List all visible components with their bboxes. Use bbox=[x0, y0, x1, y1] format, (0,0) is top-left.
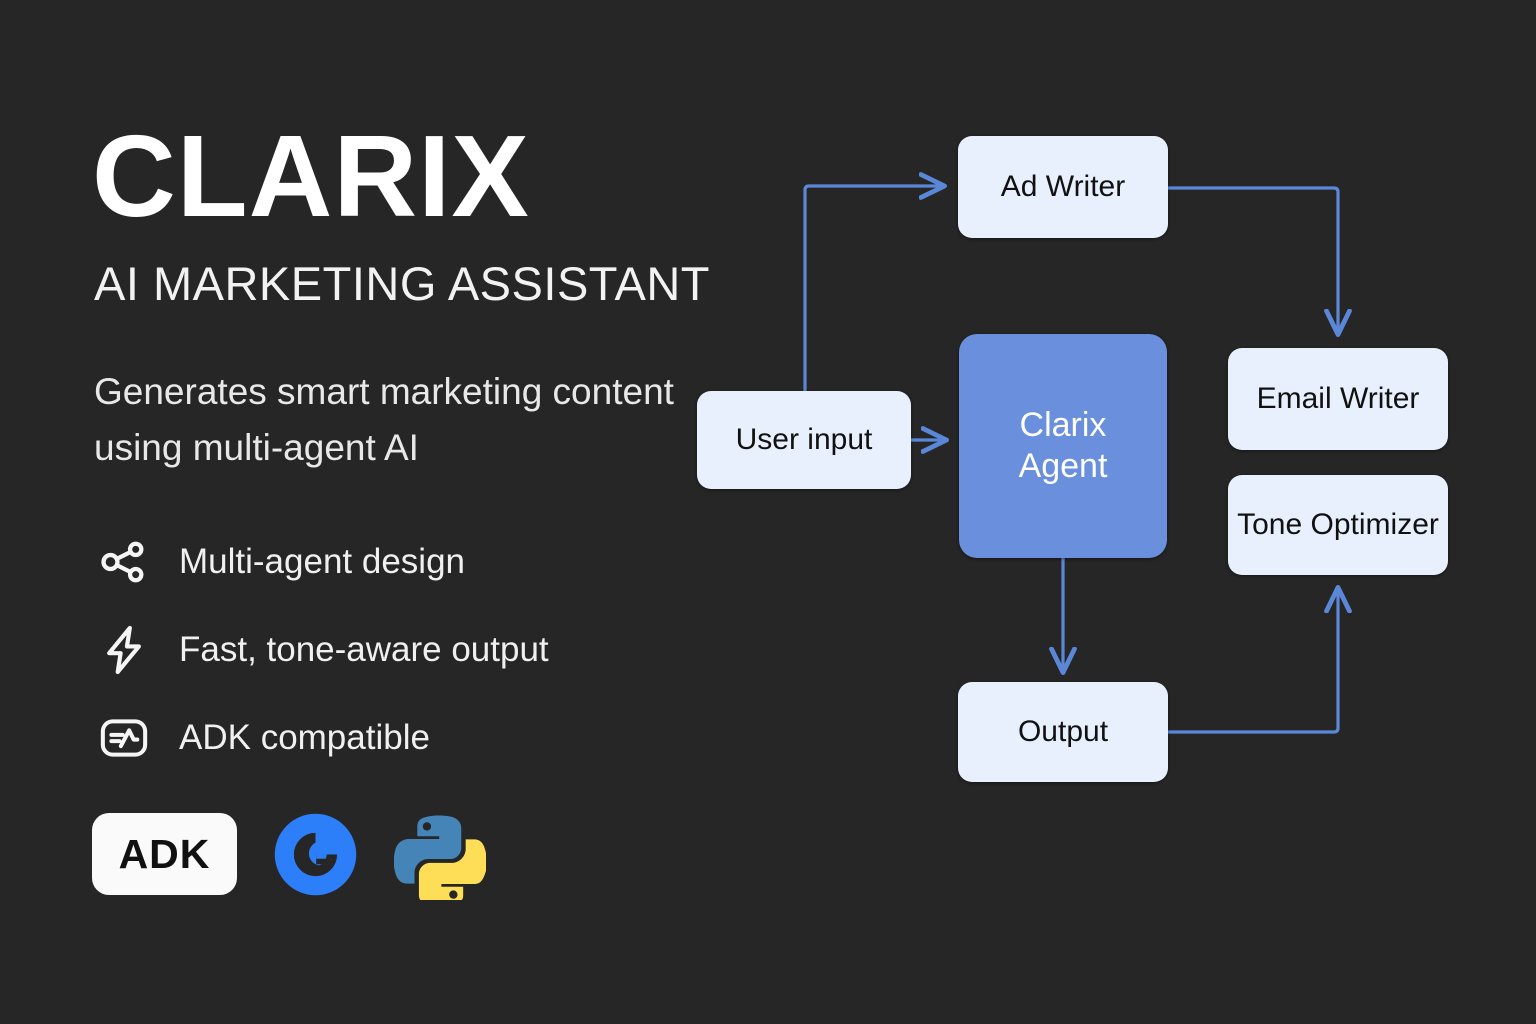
node-tone-optimizer[interactable]: Tone Optimizer bbox=[1228, 475, 1448, 575]
node-user-input[interactable]: User input bbox=[697, 391, 911, 489]
agent-flow-diagram: Ad Writer User input Clarix Agent Email … bbox=[0, 0, 1536, 1024]
node-email-writer[interactable]: Email Writer bbox=[1228, 348, 1448, 450]
edge-user-input-to-ad-writer bbox=[805, 186, 942, 392]
edge-output-to-tone-optimizer bbox=[1168, 590, 1338, 732]
node-ad-writer[interactable]: Ad Writer bbox=[958, 136, 1168, 238]
poster-canvas: CLARIX AI MARKETING ASSISTANT Generates … bbox=[0, 0, 1536, 1024]
node-output[interactable]: Output bbox=[958, 682, 1168, 782]
edge-ad-writer-to-email-writer bbox=[1168, 188, 1338, 332]
node-clarix-agent[interactable]: Clarix Agent bbox=[959, 334, 1167, 558]
